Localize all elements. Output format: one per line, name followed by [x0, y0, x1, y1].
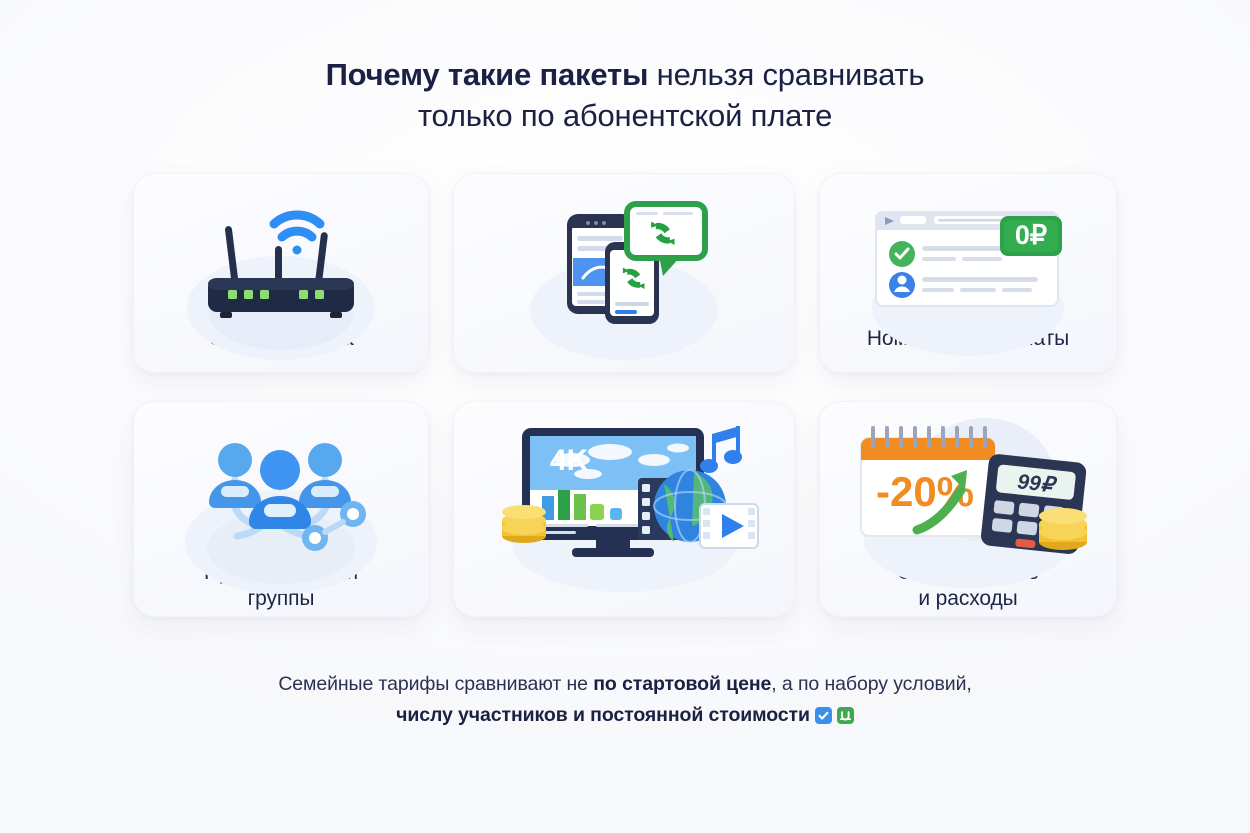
card-art-tv-services: 4K [454, 414, 794, 564]
coin-stack-icon [1039, 508, 1087, 550]
footer-line-1-bold: по стартовой цене [593, 673, 771, 695]
wifi-router-icon [166, 190, 396, 322]
title-light-part: нельзя сравнивать [648, 57, 924, 92]
screen-4k-text: 4K [550, 444, 589, 477]
footer-note: Семейные тарифы сравнивают не по стартов… [278, 669, 971, 732]
card-tv-services[interactable]: 4K [453, 401, 795, 617]
zero-price-badge-text: 0₽ [1015, 220, 1047, 250]
tv-globe-media-icon: 4K [488, 416, 760, 562]
card-equipment-costs[interactable]: -20% 99₽ [819, 401, 1117, 617]
card-group-rules[interactable]: Правила общейгруппы [133, 401, 429, 617]
footer-line-1: Семейные тарифы сравнивают не по стартов… [278, 669, 971, 701]
title-line-2: только по абонентской плате [326, 96, 925, 137]
card-art-numbers-no-fee: 0₽ [820, 186, 1116, 326]
contacts-list-zero-price-icon: 0₽ [852, 190, 1084, 322]
footer-line-1-part1: Семейные тарифы сравнивают не [278, 673, 593, 695]
title-line-1: Почему такие пакеты нельзя сравнивать [326, 55, 925, 96]
card-art-equipment-costs: -20% 99₽ [820, 414, 1116, 560]
phones-call-bubble-icon [509, 190, 739, 322]
blue-check-badge-icon [815, 707, 832, 724]
infographic-page: Почему такие пакеты нельзя сравнивать то… [0, 0, 1250, 833]
card-art-group-rules [134, 414, 428, 560]
card-numbers-no-fee[interactable]: 0₽ Номера без доплаты [819, 173, 1117, 373]
title-strong-part: Почему такие пакеты [326, 57, 649, 92]
card-art-speed-home [134, 186, 428, 326]
card-label-equipment-costs-line2: и расходы [918, 587, 1017, 610]
calculator-display-text: 99₽ [1016, 470, 1059, 497]
calendar-discount-calculator-icon: -20% 99₽ [843, 414, 1093, 560]
green-rub-badge-icon [837, 707, 854, 724]
people-network-icon [163, 414, 399, 560]
page-title: Почему такие пакеты нельзя сравнивать то… [326, 55, 925, 137]
coin-stack-icon [502, 505, 546, 543]
footer-line-1-part2: , а по набору условий, [771, 673, 971, 695]
card-speed-home[interactable]: Скорость дома [133, 173, 429, 373]
footer-line-2: числу участников и постоянной стоимости [278, 700, 971, 732]
card-minutes-gb[interactable]: Минуты и ГБ [453, 173, 795, 373]
footer-line-2-text: числу участников и постоянной стоимости [396, 704, 810, 726]
card-art-minutes-gb [454, 186, 794, 326]
feature-card-grid: Скорость дома [133, 173, 1117, 617]
music-note-icon [700, 426, 742, 473]
